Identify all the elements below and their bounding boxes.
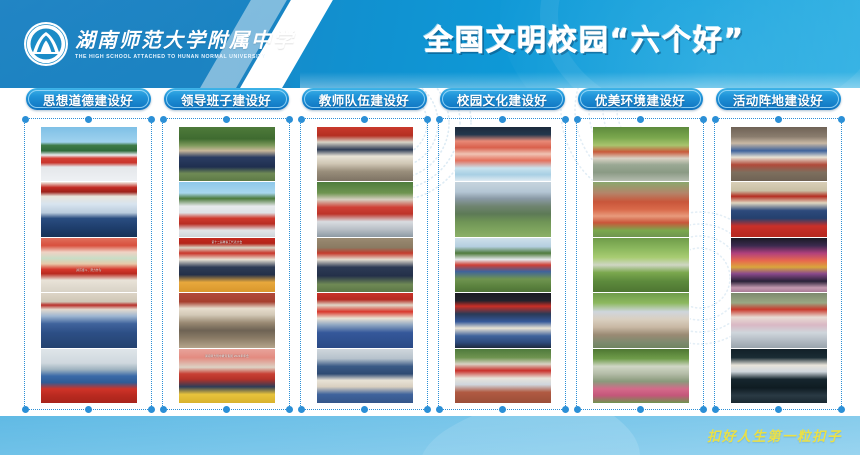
photo-volunteer-group-red-banner-building[interactable] <box>41 349 137 403</box>
poster-board: 湖南师范大学附属中学 THE HIGH SCHOOL ATTACHED TO H… <box>0 0 860 455</box>
category-label-4: 优美环境建设好 <box>595 90 685 109</box>
photo-frame-3 <box>438 118 566 410</box>
photo-frame-0: 踔厉奋斗、努力作为 <box>24 118 152 410</box>
photo-hanfu-ceremony-students-outdoor[interactable] <box>731 293 827 347</box>
photo-conference-hall-blue-seats[interactable] <box>41 293 137 347</box>
category-label-1: 领导班子建设好 <box>181 90 271 109</box>
photo-stack-3 <box>455 127 551 403</box>
footer-band: 扣好人生第一粒扣子 <box>0 416 860 455</box>
photo-stack-2 <box>317 127 413 403</box>
photo-campus-stone-marker-engraved-red[interactable] <box>593 293 689 347</box>
footer-slogan: 扣好人生第一粒扣子 <box>707 425 842 445</box>
photo-stack-1: 第十二届教职工代表大会 湖南师大附中教育集团 2021年年会 <box>179 127 275 403</box>
photo-frame-4 <box>576 118 704 410</box>
photo-caption: 踔厉奋斗、努力作为 <box>41 268 137 272</box>
photo-frame-2 <box>300 118 428 410</box>
photo-tree-lined-campus-walkway-benches[interactable] <box>593 238 689 292</box>
photo-meeting-room-projector-presentation[interactable] <box>179 293 275 347</box>
category-label-2: 教师队伍建设好 <box>319 90 409 109</box>
photo-exhibition-hall-display-boards[interactable] <box>731 127 827 181</box>
photo-frame-5 <box>714 118 842 410</box>
photo-caption: 第十二届教职工代表大会 <box>179 240 275 244</box>
category-label-3: 校园文化建设好 <box>457 90 547 109</box>
header-bottom-fade <box>300 72 860 88</box>
category-column-0: 思想道德建设好 踔厉奋斗、努力作为 <box>22 88 154 416</box>
photo-annual-meeting-award-ceremony[interactable]: 湖南师大附中教育集团 2021年年会 <box>179 349 275 403</box>
category-column-2: 教师队伍建设好 <box>298 88 430 416</box>
photo-garden-waterfall-rockery-pond[interactable] <box>593 349 689 403</box>
photo-students-outdoor-activity-grass-field[interactable] <box>455 238 551 292</box>
photo-caption: 湖南师大附中教育集团 2021年年会 <box>179 354 275 358</box>
category-pill-1[interactable]: 领导班子建设好 <box>164 88 289 110</box>
category-column-5: 活动阵地建设好 <box>712 88 844 416</box>
photo-congress-speaker-at-rostrum[interactable]: 第十二届教职工代表大会 <box>179 238 275 292</box>
category-pill-5[interactable]: 活动阵地建设好 <box>716 88 841 110</box>
school-name-en: THE HIGH SCHOOL ATTACHED TO HUNAN NORMAL… <box>75 54 295 60</box>
header-banner: 湖南师范大学附属中学 THE HIGH SCHOOL ATTACHED TO H… <box>0 0 860 88</box>
photo-auditorium-lecture-red-banner[interactable] <box>41 182 137 236</box>
photo-large-group-photo-red-uniforms[interactable] <box>317 182 413 236</box>
category-pill-3[interactable]: 校园文化建设好 <box>440 88 565 110</box>
photo-flag-bearers-parade-track[interactable] <box>455 349 551 403</box>
category-columns: 思想道德建设好 踔厉奋斗、努力作为 <box>0 88 860 416</box>
school-logo: 湖南师范大学附属中学 THE HIGH SCHOOL ATTACHED TO H… <box>24 22 295 66</box>
category-column-3: 校园文化建设好 <box>436 88 568 416</box>
category-label-0: 思想道德建设好 <box>43 90 133 109</box>
photo-stack-5 <box>731 127 827 403</box>
photo-concert-stage-led-screen-band[interactable] <box>731 238 827 292</box>
category-column-1: 领导班子建设好 第十二届教职工代表大会 湖南师大附中教育集团 2021年年会 <box>160 88 292 416</box>
photo-teacher-student-classroom-desk-interaction[interactable] <box>317 349 413 403</box>
photo-leadership-team-group-photo-campus[interactable] <box>179 127 275 181</box>
photo-conference-stage-blue-auditorium[interactable] <box>317 293 413 347</box>
photo-theatrical-stage-performance-dark[interactable] <box>731 349 827 403</box>
category-pill-4[interactable]: 优美环境建设好 <box>578 88 703 110</box>
main-content: 思想道德建设好 踔厉奋斗、努力作为 <box>0 88 860 416</box>
photo-stack-4 <box>593 127 689 403</box>
photo-outdoor-gathering-red-banner-students[interactable] <box>179 182 275 236</box>
photo-aerial-view-red-brick-building[interactable] <box>593 182 689 236</box>
photo-frame-1: 第十二届教职工代表大会 湖南师大附中教育集团 2021年年会 <box>162 118 290 410</box>
photo-large-ensemble-stage-group-photo[interactable] <box>455 293 551 347</box>
category-column-4: 优美环境建设好 <box>574 88 706 416</box>
category-pill-2[interactable]: 教师队伍建设好 <box>302 88 427 110</box>
photo-students-assembly-outdoor-red-flags[interactable] <box>41 127 137 181</box>
photo-delegation-group-photo-doorway[interactable] <box>317 238 413 292</box>
photo-award-plaque-presentation-three-people[interactable] <box>317 127 413 181</box>
photo-military-training-field-formation[interactable] <box>455 182 551 236</box>
photo-party-study-session-speaker-podium[interactable]: 踔厉奋斗、努力作为 <box>41 238 137 292</box>
photo-campus-statue-plaza-greenery[interactable] <box>593 127 689 181</box>
page-title: 全国文明校园“六个好” <box>424 17 745 59</box>
school-crest-icon <box>24 22 68 66</box>
school-name-cn: 湖南师范大学附属中学 <box>75 29 295 51</box>
photo-choir-group-photo-indoor-hall[interactable] <box>731 182 827 236</box>
category-pill-0[interactable]: 思想道德建设好 <box>26 88 151 110</box>
photo-stage-dance-performance-red-costumes[interactable] <box>455 127 551 181</box>
photo-stack-0: 踔厉奋斗、努力作为 <box>41 127 137 403</box>
category-label-5: 活动阵地建设好 <box>733 90 823 109</box>
